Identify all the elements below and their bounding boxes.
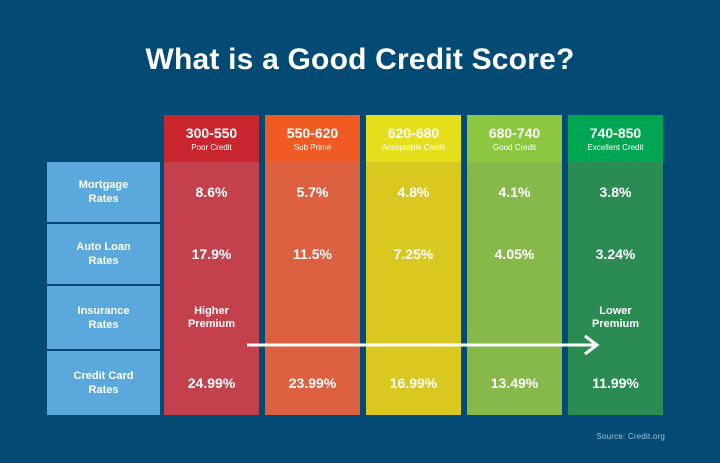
cell-insurance-740-850: Lower Premium <box>568 286 663 349</box>
cell-auto-loan-550-620: 11.5% <box>265 224 360 284</box>
cell-credit-card-740-850: 11.99% <box>568 351 663 415</box>
column-body-740-850: 3.8% 3.24% Lower Premium 11.99% <box>568 162 663 415</box>
page-title: What is a Good Credit Score? <box>0 42 720 78</box>
row-label-credit-card-rates: Credit Card Rates <box>47 351 160 415</box>
column-range: 680-740 <box>489 125 540 141</box>
column-rating-label: Poor Credit <box>191 142 231 153</box>
column-body-620-680: 4.8% 7.25% 16.99% <box>366 162 461 415</box>
column-620-680: 620-680 Acceptable Credit 4.8% 7.25% 16.… <box>366 115 461 415</box>
row-label-auto-loan-rates: Auto Loan Rates <box>47 224 160 284</box>
cell-auto-loan-680-740: 4.05% <box>467 224 562 284</box>
column-550-620: 550-620 Sub Prime 5.7% 11.5% 23.99% <box>265 115 360 415</box>
column-range: 740-850 <box>590 125 641 141</box>
row-label-insurance-rates: Insurance Rates <box>47 286 160 349</box>
cell-insurance-300-550: Higher Premium <box>164 286 259 349</box>
cell-insurance-620-680 <box>366 286 461 349</box>
row-label-line2: Rates <box>89 318 119 332</box>
cell-insurance-550-620 <box>265 286 360 349</box>
cell-mortgage-680-740: 4.1% <box>467 162 562 222</box>
cell-credit-card-680-740: 13.49% <box>467 351 562 415</box>
row-label-mortgage-rates: Mortgage Rates <box>47 162 160 222</box>
lower-premium-line2: Premium <box>592 318 639 331</box>
cell-credit-card-550-620: 23.99% <box>265 351 360 415</box>
row-label-line1: Insurance <box>78 304 130 318</box>
cell-auto-loan-300-550: 17.9% <box>164 224 259 284</box>
infographic-poster: What is a Good Credit Score? Mortgage Ra… <box>0 0 720 463</box>
cell-credit-card-300-550: 24.99% <box>164 351 259 415</box>
cell-credit-card-620-680: 16.99% <box>366 351 461 415</box>
column-rating-label: Sub Prime <box>294 142 331 153</box>
column-740-850: 740-850 Excellent Credit 3.8% 3.24% Lowe… <box>568 115 663 415</box>
cell-auto-loan-620-680: 7.25% <box>366 224 461 284</box>
column-rating-label: Excellent Credit <box>587 142 643 153</box>
column-300-550: 300-550 Poor Credit 8.6% 17.9% Higher Pr… <box>164 115 259 415</box>
column-header-740-850: 740-850 Excellent Credit <box>568 115 663 162</box>
cell-insurance-680-740 <box>467 286 562 349</box>
row-label-column: Mortgage Rates Auto Loan Rates Insurance… <box>47 115 160 415</box>
higher-premium-line1: Higher <box>194 305 229 318</box>
credit-score-table: Mortgage Rates Auto Loan Rates Insurance… <box>47 115 663 415</box>
column-range: 550-620 <box>287 125 338 141</box>
cell-mortgage-740-850: 3.8% <box>568 162 663 222</box>
row-label-line1: Credit Card <box>74 369 134 383</box>
cell-mortgage-620-680: 4.8% <box>366 162 461 222</box>
column-body-300-550: 8.6% 17.9% Higher Premium 24.99% <box>164 162 259 415</box>
column-header-300-550: 300-550 Poor Credit <box>164 115 259 162</box>
cell-auto-loan-740-850: 3.24% <box>568 224 663 284</box>
row-label-line2: Rates <box>89 254 119 268</box>
source-attribution: Source: Credit.org <box>596 432 665 441</box>
column-680-740: 680-740 Good Credit 4.1% 4.05% 13.49% <box>467 115 562 415</box>
higher-premium-line2: Premium <box>188 318 235 331</box>
row-label-line2: Rates <box>89 383 119 397</box>
cell-mortgage-300-550: 8.6% <box>164 162 259 222</box>
column-range: 300-550 <box>186 125 237 141</box>
column-body-550-620: 5.7% 11.5% 23.99% <box>265 162 360 415</box>
column-header-620-680: 620-680 Acceptable Credit <box>366 115 461 162</box>
column-header-550-620: 550-620 Sub Prime <box>265 115 360 162</box>
column-body-680-740: 4.1% 4.05% 13.49% <box>467 162 562 415</box>
column-header-680-740: 680-740 Good Credit <box>467 115 562 162</box>
row-label-line2: Rates <box>89 192 119 206</box>
score-columns: 300-550 Poor Credit 8.6% 17.9% Higher Pr… <box>164 115 663 415</box>
row-label-line1: Auto Loan <box>76 240 130 254</box>
cell-mortgage-550-620: 5.7% <box>265 162 360 222</box>
column-range: 620-680 <box>388 125 439 141</box>
lower-premium-line1: Lower <box>599 305 631 318</box>
row-label-line1: Mortgage <box>79 178 129 192</box>
column-rating-label: Good Credit <box>493 142 536 153</box>
column-rating-label: Acceptable Credit <box>382 142 445 153</box>
